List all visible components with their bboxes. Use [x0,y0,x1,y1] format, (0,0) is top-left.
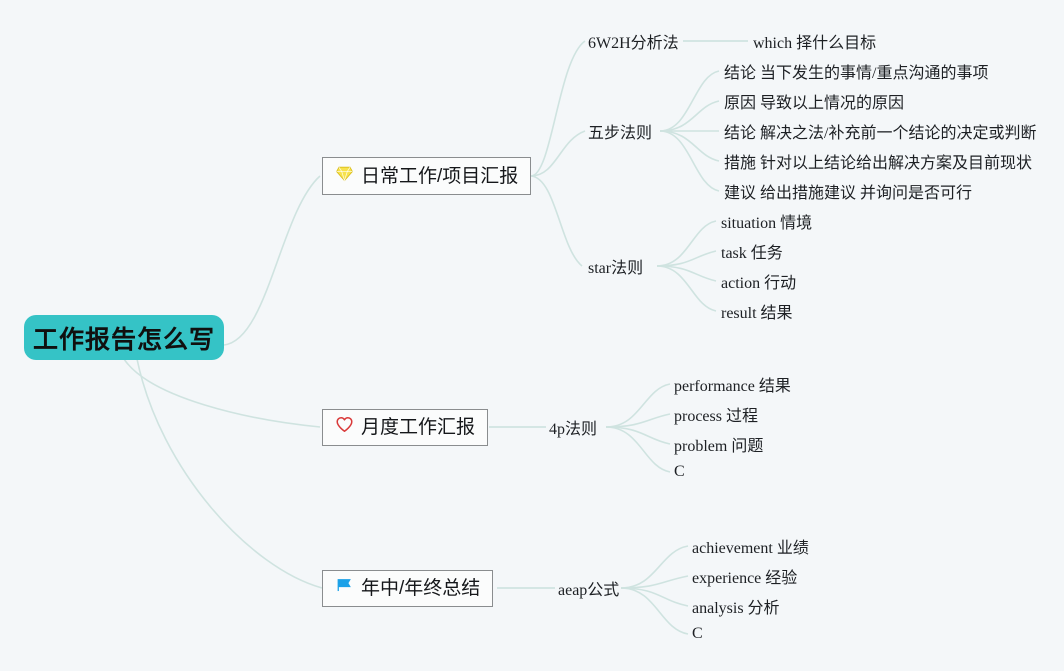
edge-star-child-4 [657,266,716,311]
leaf-which[interactable]: which 择什么目标 [753,29,876,53]
node-five-step-rule[interactable]: 五步法则 [588,119,652,143]
leaf-task[interactable]: task 任务 [721,239,783,263]
edge-4p-child-2 [606,414,670,427]
leaf-aeap-c[interactable]: C [692,625,703,643]
edge-root-to-branch-3 [137,359,322,588]
edge-star-child-3 [657,266,716,281]
leaf-achievement[interactable]: achievement 业绩 [692,534,809,558]
flag-icon [335,576,354,601]
edge-root-to-branch-2 [124,359,320,427]
branch-node-label: 月度工作汇报 [361,418,475,437]
leaf-measures[interactable]: 措施 针对以上结论给出解决方案及目前现状 [724,149,1032,173]
leaf-performance[interactable]: performance 结果 [674,372,791,396]
root-node-label: 工作报告怎么写 [33,320,215,356]
edge-root-to-branch-1 [224,176,320,345]
branch-node-monthly-report[interactable]: 月度工作汇报 [322,409,488,446]
gem-icon [335,164,354,189]
edge-4p-child-3 [606,427,670,444]
leaf-situation[interactable]: situation 情境 [721,209,812,233]
leaf-conclusion-current[interactable]: 结论 当下发生的事情/重点沟通的事项 [724,59,988,83]
edge-branch-1-to-wubu [531,131,585,176]
edge-wubu-child-1 [660,71,719,131]
leaf-4p-c[interactable]: C [674,463,685,481]
edge-4p-child-4 [606,427,670,472]
node-6w2h-method[interactable]: 6W2H分析法 [588,29,679,53]
leaf-reason[interactable]: 原因 导致以上情况的原因 [724,89,904,113]
leaf-conclusion-solution[interactable]: 结论 解决之法/补充前一个结论的决定或判断 [724,119,1036,143]
edge-aeap-child-1 [621,546,688,588]
edge-aeap-child-2 [621,576,688,588]
edge-branch-1-to-star [531,176,582,266]
leaf-experience[interactable]: experience 经验 [692,564,797,588]
edge-wubu-child-2 [660,101,719,131]
leaf-problem[interactable]: problem 问题 [674,432,763,456]
leaf-suggestion[interactable]: 建议 给出措施建议 并询问是否可行 [724,179,972,203]
edge-star-child-1 [657,221,716,266]
root-node[interactable]: 工作报告怎么写 [24,315,224,360]
heart-icon [335,415,354,440]
branch-node-daily-work[interactable]: 日常工作/项目汇报 [322,157,531,195]
leaf-result[interactable]: result 结果 [721,299,793,323]
edge-aeap-child-3 [621,588,688,606]
branch-node-label: 日常工作/项目汇报 [361,167,518,186]
leaf-process[interactable]: process 过程 [674,402,758,426]
edge-branch-1-to-6w2h [531,41,585,176]
edge-wubu-child-5 [660,131,719,191]
node-4p-rule[interactable]: 4p法则 [549,415,597,439]
node-aeap-formula[interactable]: aeap公式 [558,576,619,600]
leaf-analysis[interactable]: analysis 分析 [692,594,780,618]
edge-4p-child-1 [606,384,670,427]
edge-star-child-2 [657,251,716,266]
leaf-action[interactable]: action 行动 [721,269,796,293]
mindmap-canvas: 工作报告怎么写 日常工作/项目汇报 6W2H分析法 五步法则 star法则 wh… [0,0,1064,671]
edge-aeap-child-4 [621,588,688,634]
node-star-rule[interactable]: star法则 [588,254,643,278]
edge-wubu-child-4 [660,131,719,161]
branch-node-year-summary[interactable]: 年中/年终总结 [322,570,493,607]
branch-node-label: 年中/年终总结 [361,579,480,598]
